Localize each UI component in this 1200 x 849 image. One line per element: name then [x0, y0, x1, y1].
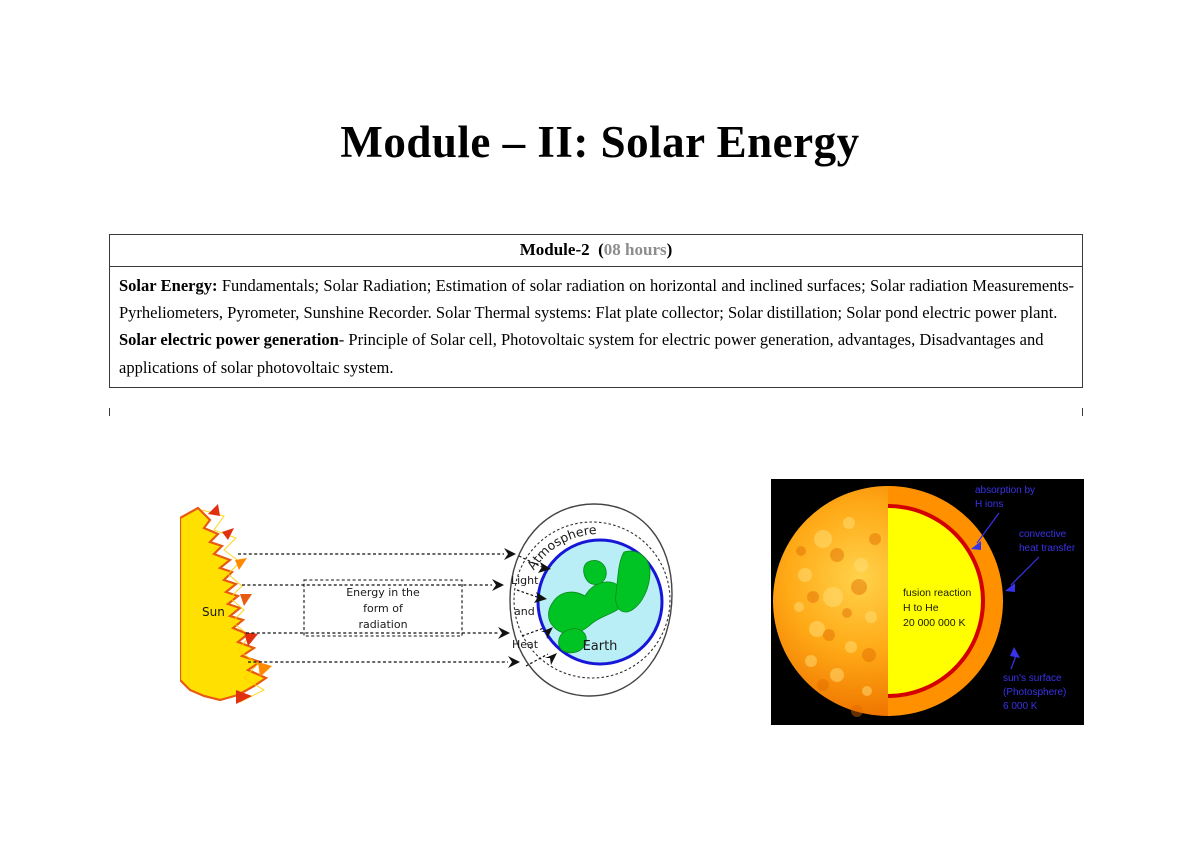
energy-label-line1: Energy in the	[346, 586, 420, 599]
table-body-row: Solar Energy: Fundamentals; Solar Radiat…	[110, 267, 1082, 388]
sun-label: Sun	[202, 605, 225, 619]
absorption-label-line2: H ions	[975, 499, 1003, 510]
syllabus-table: Module-2 (08 hours) Solar Energy: Fundam…	[109, 234, 1083, 388]
syllabus-paragraph-1: Solar Energy: Fundamentals; Solar Radiat…	[119, 272, 1074, 326]
heat-label: Heat	[512, 638, 539, 651]
energy-label-line3: radiation	[358, 618, 407, 631]
sun-limb-icon	[180, 504, 272, 704]
earth-label: Earth	[583, 639, 618, 654]
table-clipped-next-row	[109, 408, 1083, 416]
page-title: Module – II: Solar Energy	[0, 118, 1200, 168]
light-label: Light	[511, 574, 539, 587]
figure-sun-cross-section: fusion reaction H to He 20 000 000 K abs…	[771, 479, 1084, 725]
figure-sun-earth-radiation: Sun Energy in the form of radiation	[180, 490, 680, 710]
hours-paren-close: )	[667, 240, 673, 259]
convective-label-line2: heat transfer	[1019, 543, 1076, 554]
surface-label-line3: 6 000 K	[1003, 701, 1038, 712]
surface-label-line1: sun's surface	[1003, 673, 1062, 684]
syllabus-paragraph-2: Solar electric power generation- Princip…	[119, 326, 1074, 380]
hours-label: 08 hours	[604, 240, 667, 259]
energy-label-line2: form of	[363, 602, 404, 615]
convective-label-line1: convective	[1019, 529, 1067, 540]
module-label: Module-2	[520, 240, 590, 259]
fusion-label-line3: 20 000 000 K	[903, 617, 965, 629]
fusion-label-line1: fusion reaction	[903, 587, 971, 599]
syllabus-paragraph-2-heading: Solar electric power generation	[119, 330, 339, 349]
fusion-label-line2: H to He	[903, 602, 939, 614]
syllabus-paragraph-1-heading: Solar Energy:	[119, 276, 218, 295]
table-header-row: Module-2 (08 hours)	[110, 235, 1082, 267]
and-label: and	[514, 605, 535, 618]
syllabus-paragraph-1-text: Fundamentals; Solar Radiation; Estimatio…	[119, 276, 1074, 322]
surface-label-line2: (Photosphere)	[1003, 687, 1066, 698]
absorption-label-line1: absorption by	[975, 485, 1035, 496]
